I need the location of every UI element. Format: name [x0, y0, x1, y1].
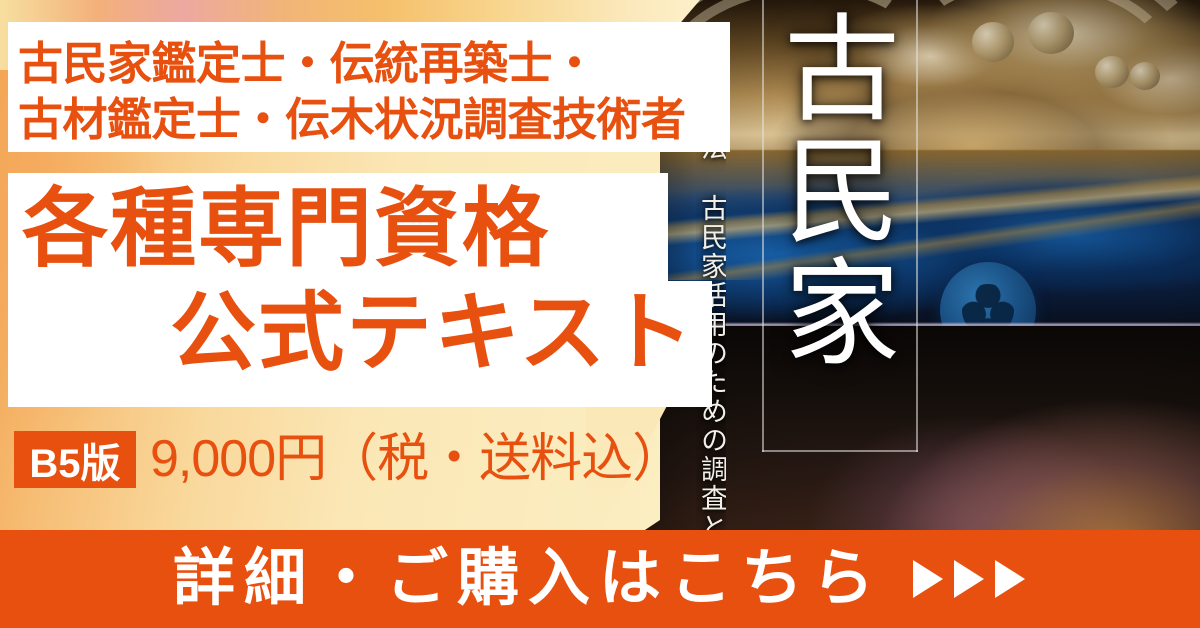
cta-arrows	[911, 558, 1027, 600]
price-text: 9,000円（税・送料込）	[150, 429, 683, 489]
main-title-line-2: 公式テキスト	[170, 290, 695, 376]
qualifications-line-1: 古民家鑑定士・伝統再築士・	[18, 38, 597, 89]
cover-frame-line-right	[916, 0, 918, 452]
triangle-right-icon	[993, 558, 1027, 600]
triangle-right-icon	[952, 558, 986, 600]
cta-bar[interactable]: 詳細・ご購入はこちら	[0, 530, 1200, 628]
promo-banner: 伝統構法 古民家活用のための調査と再生の 古民家 古民家鑑定士・伝統再築士・ 古…	[0, 0, 1200, 628]
cta-inner: 詳細・ご購入はこちら	[0, 530, 1200, 628]
cta-label: 詳細・ご購入はこちら	[173, 548, 883, 610]
qualifications-headline: 古民家鑑定士・伝統再築士・ 古材鑑定士・伝木状況調査技術者	[18, 36, 734, 148]
triangle-right-icon	[911, 558, 945, 600]
cover-frame-line-bottom	[762, 450, 918, 452]
format-badge: B5版	[14, 431, 136, 488]
main-title-line-1: 各種専門資格	[22, 186, 550, 272]
qualifications-line-2: 古材鑑定士・伝木状況調査技術者	[18, 92, 734, 148]
book-title-vertical: 古民家	[794, 8, 898, 374]
